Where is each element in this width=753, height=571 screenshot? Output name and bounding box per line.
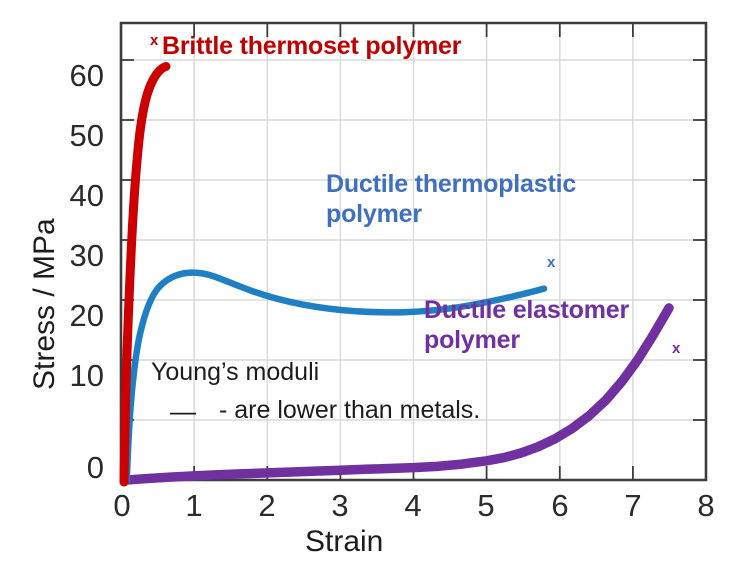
- y-tick-label-50: 50: [42, 120, 104, 151]
- series-label-brittle: Brittle thermoset polymer: [162, 34, 461, 59]
- series-label-elastomer-line2: polymer: [424, 326, 629, 356]
- y-tick-label-60: 60: [42, 60, 104, 91]
- annotation-youngs-moduli: Young’s moduli: [151, 360, 319, 385]
- series-label-elastomer: Ductile elastomer polymer: [424, 296, 629, 355]
- x-tick-label-8: 8: [681, 490, 731, 521]
- x-tick-label-0: 0: [97, 490, 147, 521]
- x-tick-label-3: 3: [315, 490, 365, 521]
- annotation-dash-icon: —: [170, 398, 196, 424]
- x-tick-label-7: 7: [608, 490, 658, 521]
- y-tick-label-40: 40: [42, 180, 104, 211]
- chart-canvas: [0, 0, 753, 571]
- series-label-thermoplastic: Ductile thermoplastic polymer: [326, 170, 576, 229]
- thermoplastic-end-marker-icon: x: [547, 255, 555, 270]
- series-label-elastomer-line1: Ductile elastomer: [424, 296, 629, 326]
- x-tick-label-6: 6: [535, 490, 585, 521]
- y-axis-title: Stress / MPa: [30, 218, 60, 390]
- x-axis-title: Strain: [305, 527, 383, 557]
- series-label-thermoplastic-line2: polymer: [326, 200, 576, 230]
- stress-strain-chart-figure: 60 50 40 30 20 10 0 0 1 2 3 4 5 6 7 8 St…: [0, 0, 753, 571]
- series-label-thermoplastic-line1: Ductile thermoplastic: [326, 170, 576, 200]
- x-tick-label-5: 5: [461, 490, 511, 521]
- x-tick-label-4: 4: [388, 490, 438, 521]
- x-tick-label-2: 2: [242, 490, 292, 521]
- annotation-lower-than-metals: - are lower than metals.: [219, 398, 480, 423]
- elastomer-end-marker-icon: x: [672, 341, 680, 356]
- x-tick-label-1: 1: [169, 490, 219, 521]
- brittle-end-marker-icon: x: [150, 33, 158, 48]
- y-tick-label-0: 0: [42, 452, 104, 483]
